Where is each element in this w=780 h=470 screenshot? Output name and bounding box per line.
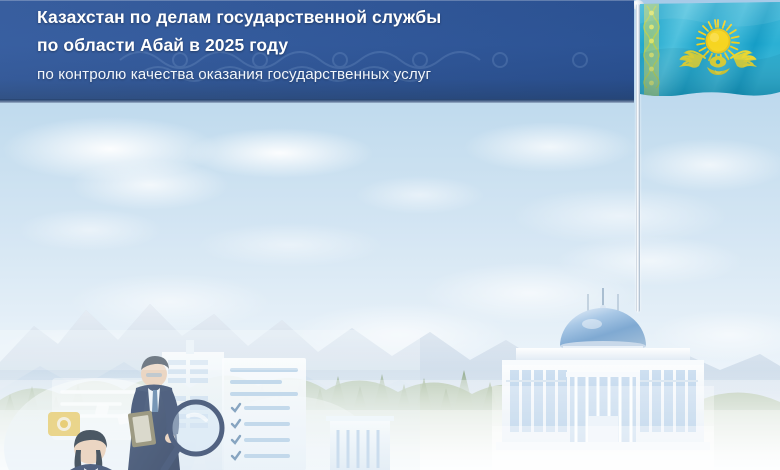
- title-text-block: Казахстан по делам государственной служб…: [37, 3, 629, 88]
- title-line-3: по контролю качества оказания государств…: [37, 62, 629, 88]
- title-line-1: Казахстан по делам государственной служб…: [37, 3, 629, 31]
- kazakhstan-flag: [639, 2, 780, 96]
- service-quality-illustration: [0, 330, 420, 470]
- banner-bottom-edge: [0, 99, 634, 103]
- government-palace: [492, 286, 714, 470]
- title-banner: Казахстан по делам государственной служб…: [0, 0, 634, 99]
- poster-root: Казахстан по делам государственной служб…: [0, 0, 780, 470]
- title-line-2: по области Абай в 2025 году: [37, 31, 629, 59]
